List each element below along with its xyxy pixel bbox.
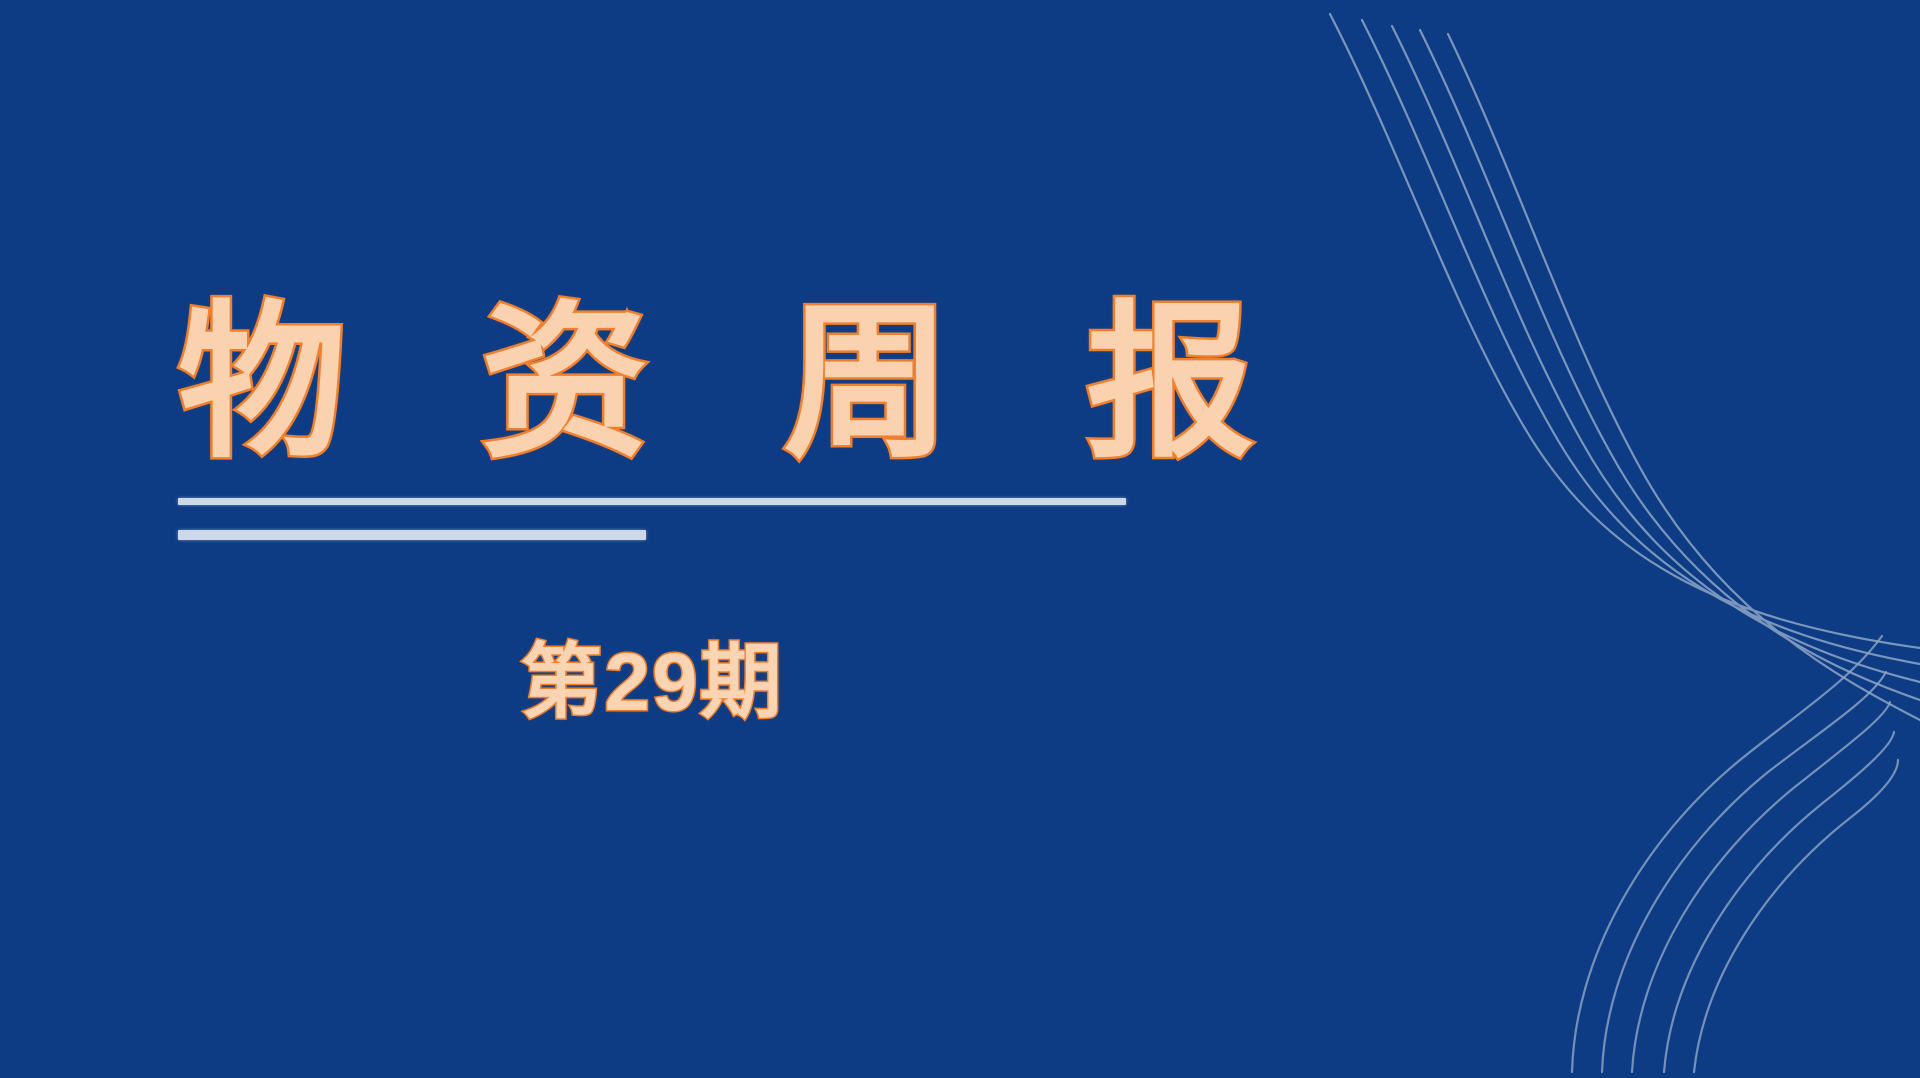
issue-subtitle: 第29期 bbox=[520, 640, 783, 726]
title-underline-long bbox=[178, 498, 1126, 505]
title-underline-group bbox=[178, 498, 1126, 540]
title-block: 物 资 周 报 bbox=[178, 286, 1178, 481]
page-title: 物 资 周 报 bbox=[178, 286, 1178, 481]
slide-root: 物 资 周 报 第29期 bbox=[0, 0, 1920, 1078]
subtitle-block: 第29期 bbox=[178, 640, 1126, 726]
title-underline-short bbox=[178, 530, 646, 540]
